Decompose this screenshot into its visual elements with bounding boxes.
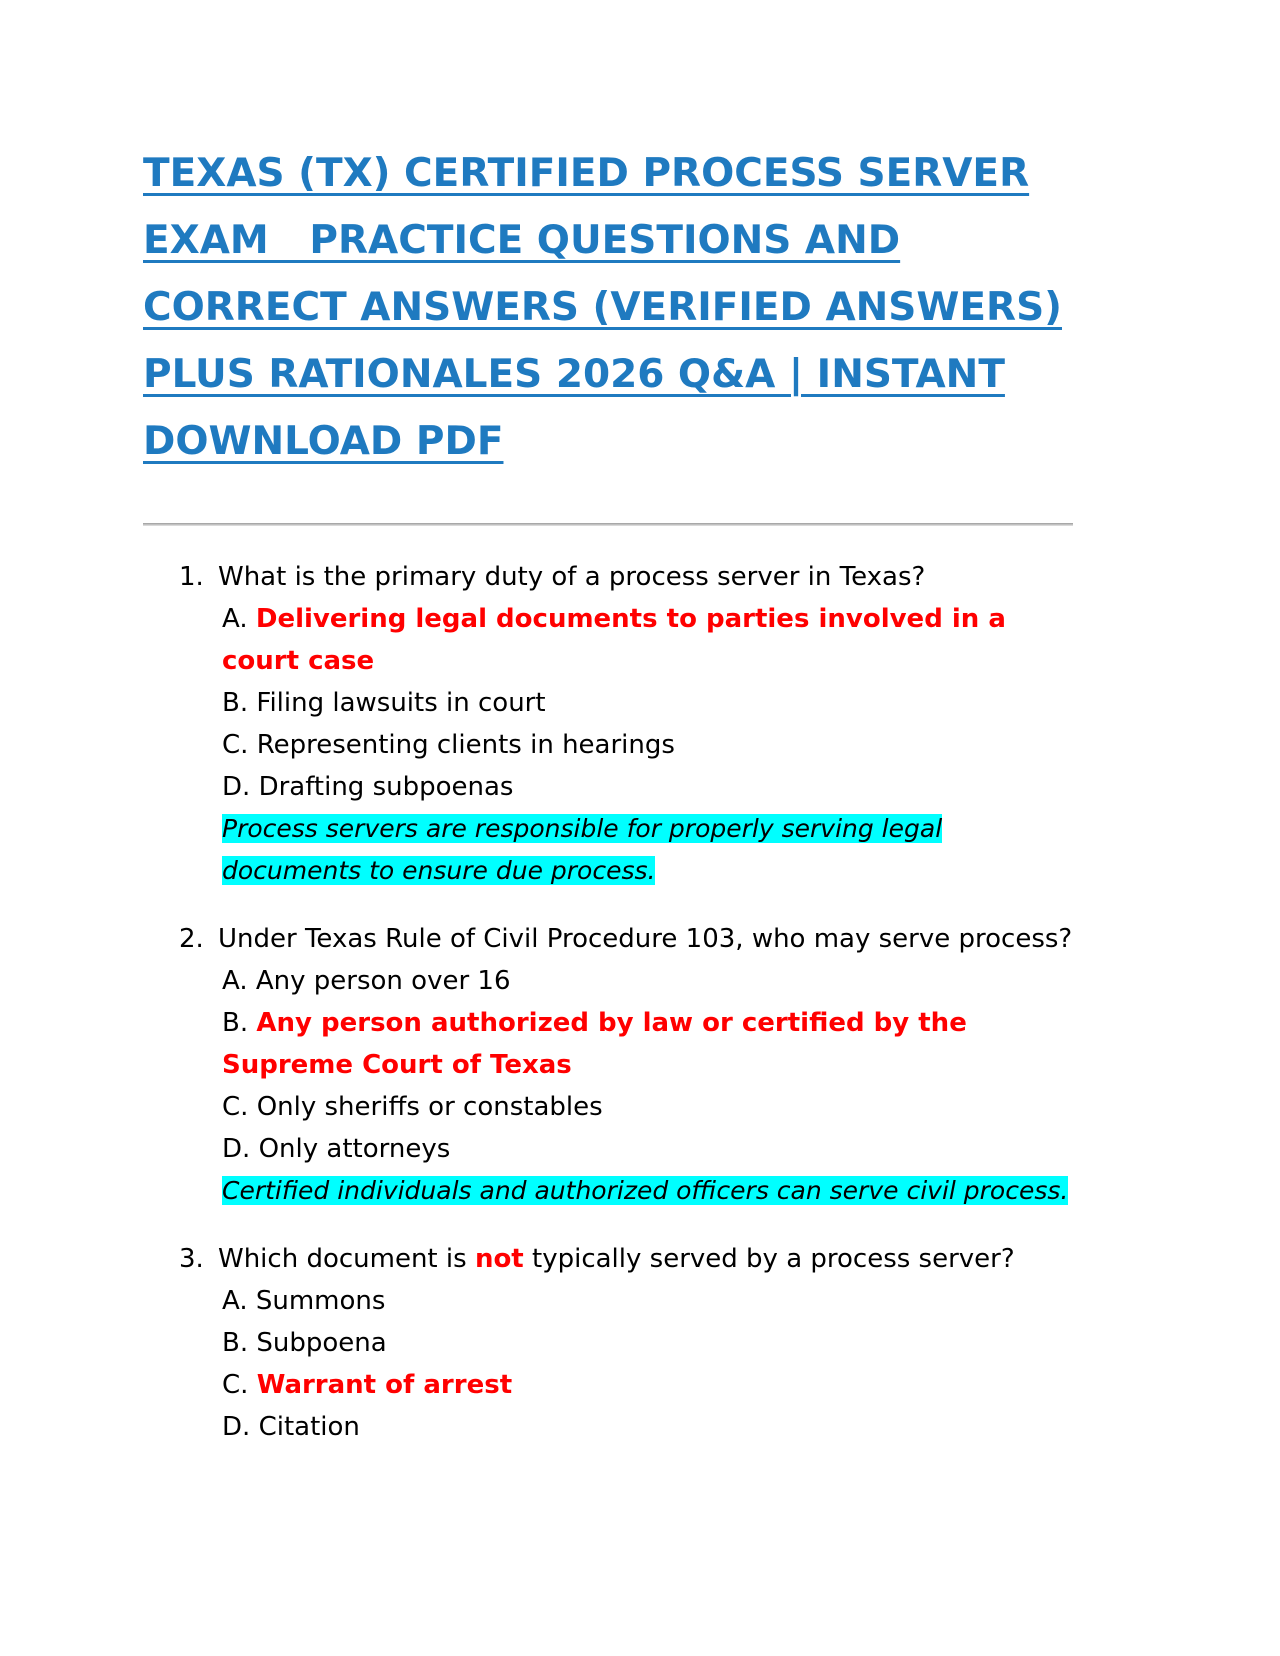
option-letter: C. (222, 1370, 248, 1400)
page-title-line-3: CORRECT ANSWERS (VERIFIED ANSWERS) (143, 274, 1073, 341)
option-letter: D. (222, 1134, 250, 1164)
page-title-line-5: DOWNLOAD PDF (143, 408, 1073, 475)
option-text: Summons (256, 1286, 386, 1316)
option-a[interactable]: A. Summons (218, 1280, 1073, 1322)
question-text: Which document is not typically served b… (218, 1238, 1073, 1280)
question-text-before: What is the primary duty of a process se… (218, 562, 925, 592)
option-letter: B. (222, 688, 248, 718)
option-text: Drafting subpoenas (259, 772, 514, 802)
option-d[interactable]: D. Citation (218, 1406, 1073, 1448)
option-letter: B. (222, 1008, 248, 1038)
option-list: A. Any person over 16 B. Any person auth… (218, 960, 1073, 1170)
document-page: TEXAS (TX) CERTIFIED PROCESS SERVER EXAM… (0, 0, 1280, 1656)
option-list: A. Summons B. Subpoena C. Warrant of arr… (218, 1280, 1073, 1448)
option-letter: D. (222, 1412, 250, 1442)
question-number: 2. (179, 918, 204, 960)
option-c[interactable]: C. Warrant of arrest (218, 1364, 1073, 1406)
option-text: Any person over 16 (256, 966, 511, 996)
option-a[interactable]: A. Delivering legal documents to parties… (218, 598, 1073, 682)
option-b[interactable]: B. Subpoena (218, 1322, 1073, 1364)
option-text: Warrant of arrest (257, 1370, 512, 1400)
rationale: Process servers are responsible for prop… (218, 808, 962, 892)
option-letter: C. (222, 730, 248, 760)
question-item: 3. Which document is not typically serve… (143, 1238, 1073, 1448)
question-text: What is the primary duty of a process se… (218, 556, 1073, 598)
page-title-line-2: EXAM PRACTICE QUESTIONS AND (143, 207, 1073, 274)
rationale: Certified individuals and authorized off… (218, 1170, 1073, 1212)
page-title: TEXAS (TX) CERTIFIED PROCESS SERVER EXAM… (143, 140, 1073, 475)
page-title-line-4: PLUS RATIONALES 2026 Q&A | INSTANT (143, 341, 1073, 408)
option-d[interactable]: D. Only attorneys (218, 1128, 1073, 1170)
question-text-after: typically served by a process server? (524, 1244, 1015, 1274)
rationale-highlight: Process servers are responsible for prop… (222, 814, 942, 885)
option-c[interactable]: C. Representing clients in hearings (218, 724, 1073, 766)
option-text: Delivering legal documents to parties in… (222, 604, 1006, 676)
option-letter: A. (222, 604, 248, 634)
question-number: 3. (179, 1238, 204, 1280)
rationale-highlight: Certified individuals and authorized off… (222, 1176, 1068, 1205)
option-text: Any person authorized by law or certifie… (222, 1008, 967, 1080)
question-text-before: Under Texas Rule of Civil Procedure 103,… (218, 924, 1072, 954)
option-b[interactable]: B. Filing lawsuits in court (218, 682, 1073, 724)
question-text-before: Which document is (218, 1244, 475, 1274)
option-text: Representing clients in hearings (257, 730, 675, 760)
option-c[interactable]: C. Only sheriffs or constables (218, 1086, 1073, 1128)
question-item: 2. Under Texas Rule of Civil Procedure 1… (143, 918, 1073, 1212)
question-text: Under Texas Rule of Civil Procedure 103,… (218, 918, 1073, 960)
question-item: 1. What is the primary duty of a process… (143, 556, 1073, 892)
header-divider (143, 523, 1073, 526)
option-letter: C. (222, 1092, 248, 1122)
question-number: 1. (179, 556, 204, 598)
option-letter: A. (222, 1286, 248, 1316)
option-text: Only attorneys (259, 1134, 451, 1164)
option-text: Subpoena (256, 1328, 386, 1358)
option-d[interactable]: D. Drafting subpoenas (218, 766, 1073, 808)
question-list: 1. What is the primary duty of a process… (143, 556, 1073, 1448)
option-a[interactable]: A. Any person over 16 (218, 960, 1073, 1002)
question-negation-word: not (475, 1244, 524, 1274)
option-b[interactable]: B. Any person authorized by law or certi… (218, 1002, 1073, 1086)
option-text: Only sheriffs or constables (257, 1092, 603, 1122)
page-title-line-1: TEXAS (TX) CERTIFIED PROCESS SERVER (143, 140, 1073, 207)
option-letter: B. (222, 1328, 248, 1358)
option-letter: A. (222, 966, 248, 996)
option-list: A. Delivering legal documents to parties… (218, 598, 1073, 808)
option-letter: D. (222, 772, 250, 802)
option-text: Filing lawsuits in court (256, 688, 545, 718)
document-body: TEXAS (TX) CERTIFIED PROCESS SERVER EXAM… (143, 140, 1073, 1474)
option-text: Citation (259, 1412, 360, 1442)
